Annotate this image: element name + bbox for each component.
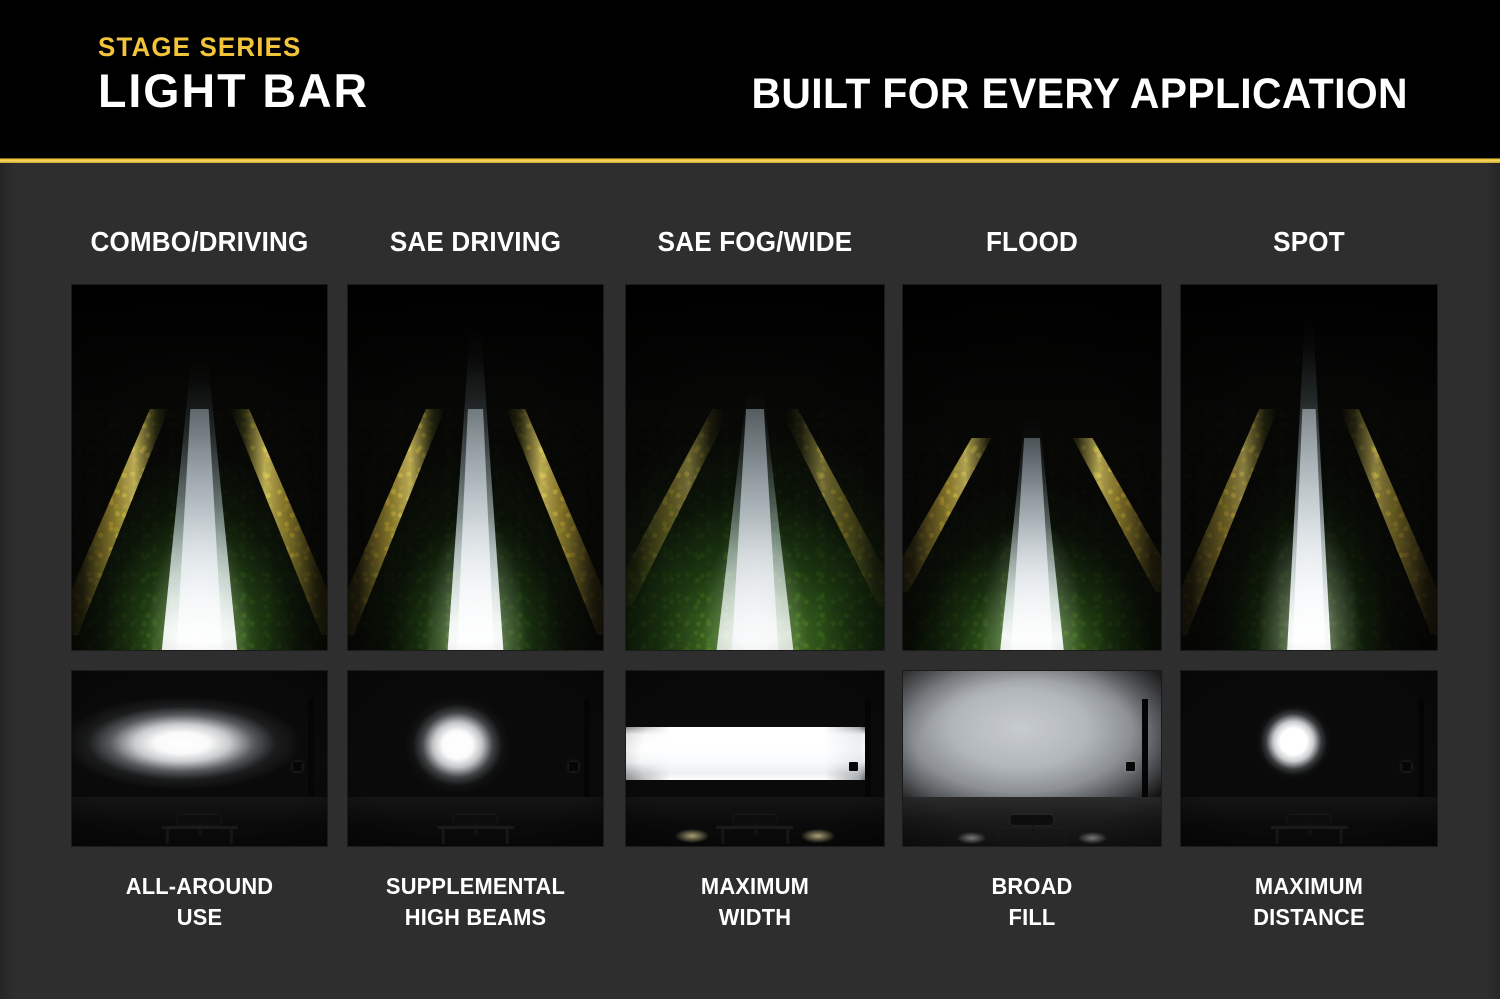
road-photo-spot (1181, 285, 1437, 650)
page-header: STAGE SERIES LIGHT BAR BUILT FOR EVERY A… (0, 0, 1500, 160)
column-title: COMBO/DRIVING (81, 226, 318, 258)
road-scene (1181, 285, 1437, 650)
column-caption: MAXIMUM WIDTH (632, 871, 877, 933)
road-photo-sae-fog-wide (626, 285, 884, 650)
road-scene (348, 285, 603, 650)
brand-logo: STAGE SERIES LIGHT BAR (98, 34, 578, 116)
brand-line-stage-series: STAGE SERIES (98, 34, 559, 61)
page-headline: BUILT FOR EVERY APPLICATION (752, 70, 1408, 119)
beam-photo-vignette (72, 671, 327, 846)
column-caption: BROAD FILL (909, 871, 1154, 933)
caption-line-2: HIGH BEAMS (354, 902, 596, 933)
beam-photo-vignette (626, 671, 884, 846)
brand-line-light-bar: LIGHT BAR (98, 66, 573, 116)
road-photo-combo-driving (72, 285, 327, 650)
column-title: SAE DRIVING (357, 226, 594, 258)
road-scene (72, 285, 327, 650)
caption-line-2: FILL (909, 902, 1154, 933)
caption-line-2: DISTANCE (1187, 902, 1430, 933)
column-caption: SUPPLEMENTAL HIGH BEAMS (354, 871, 596, 933)
beam-pattern-flood (903, 671, 1161, 846)
caption-line-1: MAXIMUM (632, 871, 877, 902)
beam-pattern-combo-driving (72, 671, 327, 846)
caption-line-1: ALL-AROUND (78, 871, 320, 902)
caption-line-2: WIDTH (632, 902, 877, 933)
beam-photo-vignette (1181, 671, 1437, 846)
wall-scene (72, 671, 327, 846)
caption-line-2: USE (78, 902, 320, 933)
beam-pattern-sae-fog-wide (626, 671, 884, 846)
road-photo-sae-driving (348, 285, 603, 650)
column-title: FLOOD (912, 226, 1152, 258)
beam-photo-vignette (348, 671, 603, 846)
beam-pattern-sae-driving (348, 671, 603, 846)
wall-scene (903, 671, 1161, 846)
caption-line-1: MAXIMUM (1187, 871, 1430, 902)
night-sky (903, 285, 1161, 438)
caption-line-1: SUPPLEMENTAL (354, 871, 596, 902)
column-caption: ALL-AROUND USE (78, 871, 320, 933)
left-edge-vignette (0, 163, 14, 999)
wall-scene (626, 671, 884, 846)
column-caption: MAXIMUM DISTANCE (1187, 871, 1430, 933)
beam-photo-vignette (903, 671, 1161, 846)
road-photo-flood (903, 285, 1161, 650)
right-edge-vignette (1486, 163, 1500, 999)
wall-scene (1181, 671, 1437, 846)
comparison-grid: COMBO/DRIVING (0, 163, 1500, 999)
road-scene (626, 285, 884, 650)
column-title: SAE FOG/WIDE (635, 226, 875, 258)
beam-pattern-spot (1181, 671, 1437, 846)
road-scene (903, 285, 1161, 650)
caption-line-1: BROAD (909, 871, 1154, 902)
column-title: SPOT (1190, 226, 1428, 258)
wall-scene (348, 671, 603, 846)
